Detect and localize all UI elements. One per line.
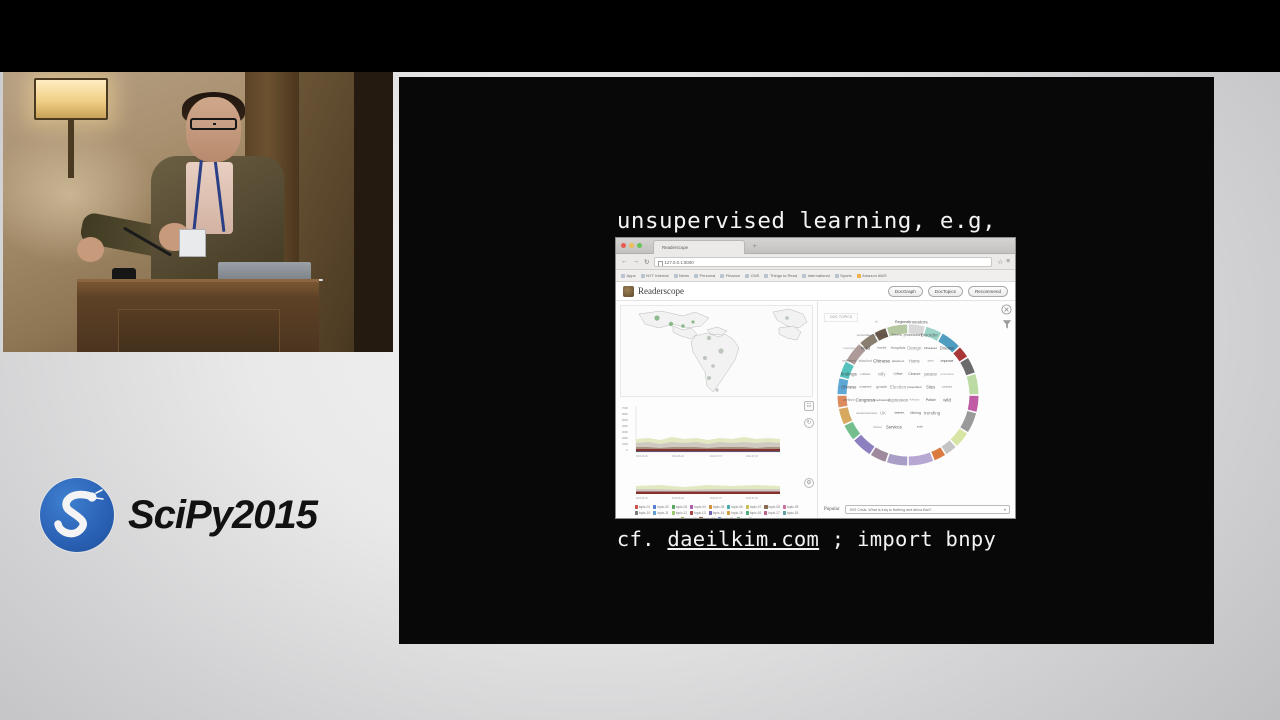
wall-lamp xyxy=(34,78,108,120)
close-icon[interactable] xyxy=(1001,304,1012,315)
legend-label: topic-13 xyxy=(694,511,705,515)
topic-word[interactable]: announcement xyxy=(856,411,876,415)
legend-item[interactable]: topic-06 xyxy=(727,505,743,509)
minimap-controls: ⚙ xyxy=(804,478,814,488)
new-tab-button[interactable]: + xyxy=(753,244,757,250)
legend-swatch xyxy=(737,517,740,518)
popular-select[interactable]: ISIS Crisis: What Is Iraq to Nothing and… xyxy=(845,505,1010,514)
timeseries-minimap[interactable]: 2014-06-012014-06-20 2014-07-072014-07-2… xyxy=(620,476,813,502)
legend-label: topic-16 xyxy=(750,511,761,515)
legend-label: topic-06 xyxy=(731,505,742,509)
legend-label: topic-19 xyxy=(685,517,696,518)
legend-label: topic-22 xyxy=(741,517,752,518)
bookmark-label: Apps xyxy=(627,273,636,278)
legend-item[interactable]: topic-15 xyxy=(727,511,743,515)
bookmark-label: CMS xyxy=(751,273,760,278)
legend-swatch xyxy=(672,511,675,514)
minimap-svg: 2014-06-012014-06-20 2014-07-072014-07-2… xyxy=(620,476,786,502)
topic-word[interactable]: Closure xyxy=(908,372,920,376)
filter-icon[interactable] xyxy=(1002,319,1012,330)
svg-text:2014-06-01: 2014-06-01 xyxy=(636,498,648,500)
topic-word[interactable]: Nation xyxy=(873,425,882,429)
bookmark-item[interactable]: Apps xyxy=(621,273,636,278)
legend-label: topic-08 xyxy=(769,505,780,509)
legend-swatch xyxy=(653,511,656,514)
topic-word[interactable]: Home xyxy=(909,359,920,364)
topic-word[interactable]: Design xyxy=(907,345,921,350)
speaker-badge xyxy=(179,229,206,257)
legend-swatch xyxy=(635,505,638,508)
window-controls xyxy=(621,243,642,248)
app-nav-buttons: DocGraph DocTopics Recommend xyxy=(888,286,1008,297)
ring-segment[interactable] xyxy=(964,412,972,430)
topic-word[interactable]: College xyxy=(894,373,903,376)
topic-word[interactable]: welfare xyxy=(843,398,855,402)
caption-prefix: cf. xyxy=(617,527,668,551)
topic-word[interactable]: company xyxy=(942,386,953,389)
bookmark-label: Amazon AWS xyxy=(862,273,887,278)
ring-segment[interactable] xyxy=(888,458,907,461)
legend-swatch xyxy=(764,511,767,514)
legend-item[interactable]: topic-07 xyxy=(746,505,762,509)
legend-item[interactable]: topic-21 xyxy=(718,517,734,518)
popular-row: Popular ISIS Crisis: What Is Iraq to Not… xyxy=(824,505,1010,514)
legend-label: topic-14 xyxy=(713,511,724,515)
ring-segment[interactable] xyxy=(909,457,932,461)
svg-text:2000: 2000 xyxy=(622,436,628,440)
legend-label: topic-09 xyxy=(787,505,798,509)
svg-text:2014-06-20: 2014-06-20 xyxy=(672,498,684,500)
legend-swatch xyxy=(653,505,656,508)
legend-item[interactable]: topic-10 xyxy=(635,511,651,515)
chart-legend: topic-01topic-02topic-03topic-04topic-05… xyxy=(620,505,813,518)
topic-word[interactable]: medication xyxy=(874,398,889,402)
app-title: Readerscope xyxy=(638,286,684,296)
bookmark-item[interactable]: Finance xyxy=(720,273,740,278)
topic-word[interactable]: Georgia xyxy=(843,346,854,350)
scipy-logo: SciPy2015 xyxy=(40,478,317,552)
topic-word[interactable]: congested xyxy=(859,386,871,389)
bookmark-item[interactable]: Personal xyxy=(694,273,715,278)
url-actions: ☆ ≡ xyxy=(997,258,1010,266)
ring-segment[interactable] xyxy=(858,438,872,451)
topic-word[interactable]: wild xyxy=(943,398,951,403)
topic-word[interactable]: Shooting xyxy=(892,333,902,336)
topic-word[interactable]: Sites xyxy=(926,385,935,390)
legend-label: topic-15 xyxy=(731,511,742,515)
forward-icon[interactable]: → xyxy=(633,258,640,265)
bookmark-label: International xyxy=(808,273,830,278)
legend-swatch xyxy=(690,505,693,508)
calendar-icon[interactable]: ☷ xyxy=(804,401,814,411)
legend-item[interactable]: topic-03 xyxy=(672,505,688,509)
topic-word[interactable]: investors xyxy=(909,319,927,324)
speaker-glasses xyxy=(190,118,237,130)
bookmark-item[interactable]: CMS xyxy=(745,273,759,278)
right-panel: DOC TOPICS oilRegionalinvestorscomm xyxy=(818,301,1015,518)
ring-segment[interactable] xyxy=(964,360,970,374)
chart-controls: ☷ ↻ xyxy=(804,401,814,428)
recommend-button[interactable]: Recommend xyxy=(968,286,1008,297)
topic-wordcloud: oilRegionalinvestorscommitteevehiclesSho… xyxy=(836,317,960,435)
topic-word[interactable]: diabetes xyxy=(894,412,904,415)
doctopics-button[interactable]: DocTopics xyxy=(928,286,963,297)
topic-word[interactable]: vehicles xyxy=(873,332,888,337)
caption-suffix: ; import bnpy xyxy=(819,527,996,551)
ring-segment[interactable] xyxy=(933,451,943,456)
topic-word[interactable]: head xyxy=(861,345,870,350)
legend-label: topic-04 xyxy=(694,505,705,509)
map-svg xyxy=(621,306,813,396)
legend-swatch xyxy=(783,511,786,514)
left-panel: 70006000 50004000 30002000 10000 xyxy=(616,301,818,518)
legend-label: topic-01 xyxy=(639,505,650,509)
topic-word[interactable]: Chinese xyxy=(841,385,856,390)
caption-link[interactable]: daeilkim.com xyxy=(667,527,819,551)
bookmark-label: News xyxy=(679,273,689,278)
legend-item[interactable]: topic-05 xyxy=(709,505,725,509)
topic-word[interactable]: findings xyxy=(841,372,857,377)
timeseries-chart[interactable]: 70006000 50004000 30002000 10000 xyxy=(620,401,813,473)
svg-text:2014-06-01: 2014-06-01 xyxy=(636,456,648,458)
speaker-video xyxy=(3,72,393,352)
topic-word[interactable]: Advisory xyxy=(909,399,919,402)
legend-label: topic-11 xyxy=(657,511,668,515)
legend-item[interactable]: topic-08 xyxy=(764,505,780,509)
browser-titlebar: Readerscope + xyxy=(616,238,1015,254)
bookmark-label: Things to Read xyxy=(770,273,797,278)
legend-item[interactable]: topic-18 xyxy=(783,511,799,515)
ring-segment[interactable] xyxy=(971,375,974,394)
legend-swatch xyxy=(681,517,684,518)
browser-navbar: ← → ↻ 127.0.0.1:5000 ☆ ≡ xyxy=(616,254,1015,270)
legend-swatch xyxy=(718,517,721,518)
legend-label: topic-17 xyxy=(768,511,779,515)
svg-text:6000: 6000 xyxy=(622,412,628,416)
topic-word[interactable]: trade xyxy=(917,425,923,428)
legend-swatch xyxy=(727,505,730,508)
topic-word[interactable]: improve xyxy=(941,359,954,363)
svg-text:1000: 1000 xyxy=(622,442,628,446)
svg-text:2014-07-25: 2014-07-25 xyxy=(746,456,758,458)
topic-word[interactable]: Diseases xyxy=(924,346,937,350)
legend-item[interactable]: topic-04 xyxy=(690,505,706,509)
legend-item[interactable]: topic-16 xyxy=(746,511,762,515)
wall-dark-edge xyxy=(354,72,393,352)
topic-word[interactable]: Police xyxy=(926,398,936,402)
close-button[interactable] xyxy=(621,243,626,248)
legend-item[interactable]: topic-20 xyxy=(699,517,715,518)
bookmarks-bar: Apps NYT Internal News Personal Finance … xyxy=(616,270,1015,282)
legend-swatch xyxy=(727,511,730,514)
legend-item[interactable]: topic-14 xyxy=(709,511,725,515)
topic-word[interactable]: oil xyxy=(875,320,878,323)
app-panes: 70006000 50004000 30002000 10000 xyxy=(616,301,1015,518)
legend-swatch xyxy=(783,505,786,508)
legend-swatch xyxy=(699,517,702,518)
legend-item[interactable]: topic-09 xyxy=(783,505,799,509)
topic-word[interactable]: Services xyxy=(886,424,902,429)
topic-word[interactable]: Congress xyxy=(855,398,875,403)
timeseries-svg: 70006000 50004000 30002000 10000 xyxy=(620,401,786,469)
topic-word[interactable]: Mining xyxy=(910,411,921,415)
topic-word[interactable]: militant xyxy=(860,372,870,376)
bookmark-label: Finance xyxy=(726,273,740,278)
topic-word[interactable]: notifications xyxy=(842,360,856,363)
svg-text:3000: 3000 xyxy=(622,430,628,434)
legend-item[interactable]: topic-11 xyxy=(653,511,668,515)
svg-text:2014-07-25: 2014-07-25 xyxy=(746,498,758,500)
legend-swatch xyxy=(709,505,712,508)
svg-text:4000: 4000 xyxy=(622,424,628,428)
topic-word[interactable]: committee xyxy=(857,333,871,337)
legend-swatch xyxy=(690,511,693,514)
bookmark-label: Sports xyxy=(840,273,852,278)
ring-segment[interactable] xyxy=(944,444,953,451)
scipy-logo-text: SciPy2015 xyxy=(128,493,317,538)
topic-word[interactable]: Disease xyxy=(940,345,955,350)
topic-panel-controls xyxy=(1001,304,1012,330)
topic-word[interactable]: prevention xyxy=(907,385,921,389)
legend-swatch xyxy=(746,511,749,514)
topic-word[interactable]: Regional xyxy=(895,320,909,324)
bookmark-item[interactable]: Sports xyxy=(835,273,852,278)
slide-caption: cf. daeilkim.com ; import bnpy xyxy=(399,527,1214,551)
topic-word[interactable]: Election xyxy=(890,385,906,390)
bookmark-label: NYT Internal xyxy=(646,273,668,278)
docgraph-button[interactable]: DocGraph xyxy=(888,286,923,297)
topic-word[interactable]: Chinese xyxy=(873,359,890,364)
settings-icon[interactable]: ⚙ xyxy=(804,478,814,488)
app-header: Readerscope DocGraph DocTopics Recommend xyxy=(616,282,1015,301)
bookmark-label: Personal xyxy=(700,273,716,278)
menu-icon[interactable]: ≡ xyxy=(1006,258,1010,265)
legend-item[interactable]: topic-13 xyxy=(690,511,706,515)
back-icon[interactable]: ← xyxy=(621,258,628,265)
bookmark-item[interactable]: Things to Read xyxy=(764,273,797,278)
topic-word[interactable]: attacked xyxy=(859,359,873,363)
legend-label: topic-02 xyxy=(657,505,668,509)
refresh-icon[interactable]: ↻ xyxy=(804,418,814,428)
popular-label: Popular xyxy=(824,507,840,512)
browser-screenshot: Readerscope + ← → ↻ 127.0.0.1:5000 ☆ ≡ A… xyxy=(616,238,1015,518)
legend-item[interactable]: topic-17 xyxy=(764,511,780,515)
bookmark-item[interactable]: Amazon AWS xyxy=(857,273,887,278)
legend-swatch xyxy=(764,505,767,508)
reload-icon[interactable]: ↻ xyxy=(644,258,649,266)
app-logo-icon xyxy=(623,286,634,297)
legend-label: topic-07 xyxy=(750,505,761,509)
topic-word[interactable]: trending xyxy=(924,411,941,416)
legend-label: topic-21 xyxy=(722,517,733,518)
bookmark-item[interactable]: International xyxy=(802,273,830,278)
svg-text:7000: 7000 xyxy=(622,406,628,410)
legend-label: topic-20 xyxy=(704,517,715,518)
legend-label: topic-18 xyxy=(787,511,798,515)
legend-swatch xyxy=(709,511,712,514)
topic-word[interactable]: rally xyxy=(878,372,886,377)
topic-word[interactable]: depression xyxy=(888,398,908,403)
world-map[interactable] xyxy=(620,305,813,397)
legend-label: topic-12 xyxy=(676,511,687,515)
podium xyxy=(77,279,319,352)
topic-word[interactable]: hospital xyxy=(877,346,886,349)
maximize-button[interactable] xyxy=(637,243,642,248)
browser-tab[interactable]: Readerscope xyxy=(653,240,745,254)
legend-item[interactable]: topic-22 xyxy=(737,517,753,518)
svg-text:2014-06-20: 2014-06-20 xyxy=(672,456,684,458)
topic-word[interactable]: UK xyxy=(880,411,886,416)
ring-segment[interactable] xyxy=(873,451,887,457)
slide-title: unsupervised learning, e.g, xyxy=(399,208,1214,234)
legend-swatch xyxy=(746,505,749,508)
minimize-button[interactable] xyxy=(629,243,634,248)
topic-word[interactable]: peace xyxy=(924,372,937,377)
svg-text:2014-07-07: 2014-07-07 xyxy=(710,498,722,500)
url-input[interactable]: 127.0.0.1:5000 xyxy=(654,257,992,267)
presentation-slide: unsupervised learning, e.g, Readerscope … xyxy=(399,77,1214,644)
legend-item[interactable]: topic-19 xyxy=(681,517,697,518)
legend-item[interactable]: topic-01 xyxy=(635,505,651,509)
legend-label: topic-05 xyxy=(713,505,724,509)
legend-item[interactable]: topic-02 xyxy=(653,505,669,509)
legend-label: topic-10 xyxy=(639,511,650,515)
legend-item[interactable]: topic-12 xyxy=(672,511,688,515)
bookmark-item[interactable]: News xyxy=(674,273,690,278)
topic-word[interactable]: agent xyxy=(927,360,934,363)
app-viewport: Readerscope DocGraph DocTopics Recommend xyxy=(616,282,1015,518)
svg-text:2014-07-07: 2014-07-07 xyxy=(710,456,722,458)
legend-label: topic-03 xyxy=(676,505,687,509)
svg-text:5000: 5000 xyxy=(622,418,628,422)
topic-word[interactable]: Hospitals xyxy=(891,346,906,350)
legend-swatch xyxy=(672,505,675,508)
topic-word[interactable]: attackers xyxy=(892,359,905,363)
topic-word[interactable]: executive xyxy=(941,372,954,376)
bookmark-item[interactable]: NYT Internal xyxy=(641,273,669,278)
legend-swatch xyxy=(635,511,638,514)
topic-word[interactable]: Disorder xyxy=(921,332,938,337)
snake-icon xyxy=(40,478,114,552)
svg-text:0: 0 xyxy=(626,448,628,452)
star-icon[interactable]: ☆ xyxy=(997,258,1003,266)
scipy-snake-logo xyxy=(40,478,114,552)
topic-word[interactable]: growth xyxy=(876,385,887,389)
topic-word[interactable]: prosecutors xyxy=(904,333,923,337)
ring-segment[interactable] xyxy=(972,396,974,411)
letterbox-top xyxy=(0,0,1280,72)
